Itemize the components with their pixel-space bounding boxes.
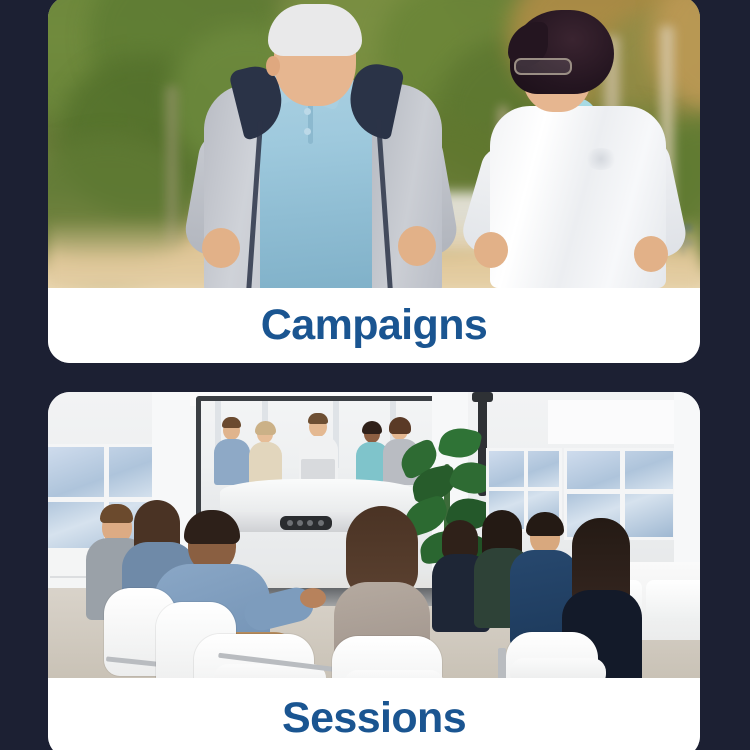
app-screen: Campaigns <box>0 0 750 750</box>
card-caption-sessions: Sessions <box>48 678 700 750</box>
person-figure <box>478 10 678 288</box>
card-caption-campaigns: Campaigns <box>48 288 700 363</box>
card-sessions[interactable]: Sessions <box>48 392 700 750</box>
person-figure <box>186 4 456 288</box>
card-label-sessions: Sessions <box>282 697 466 740</box>
seniors-jogging-photo <box>48 0 700 288</box>
card-label-campaigns: Campaigns <box>261 304 487 347</box>
card-campaigns[interactable]: Campaigns <box>48 0 700 363</box>
conference-room-photo <box>48 392 700 678</box>
